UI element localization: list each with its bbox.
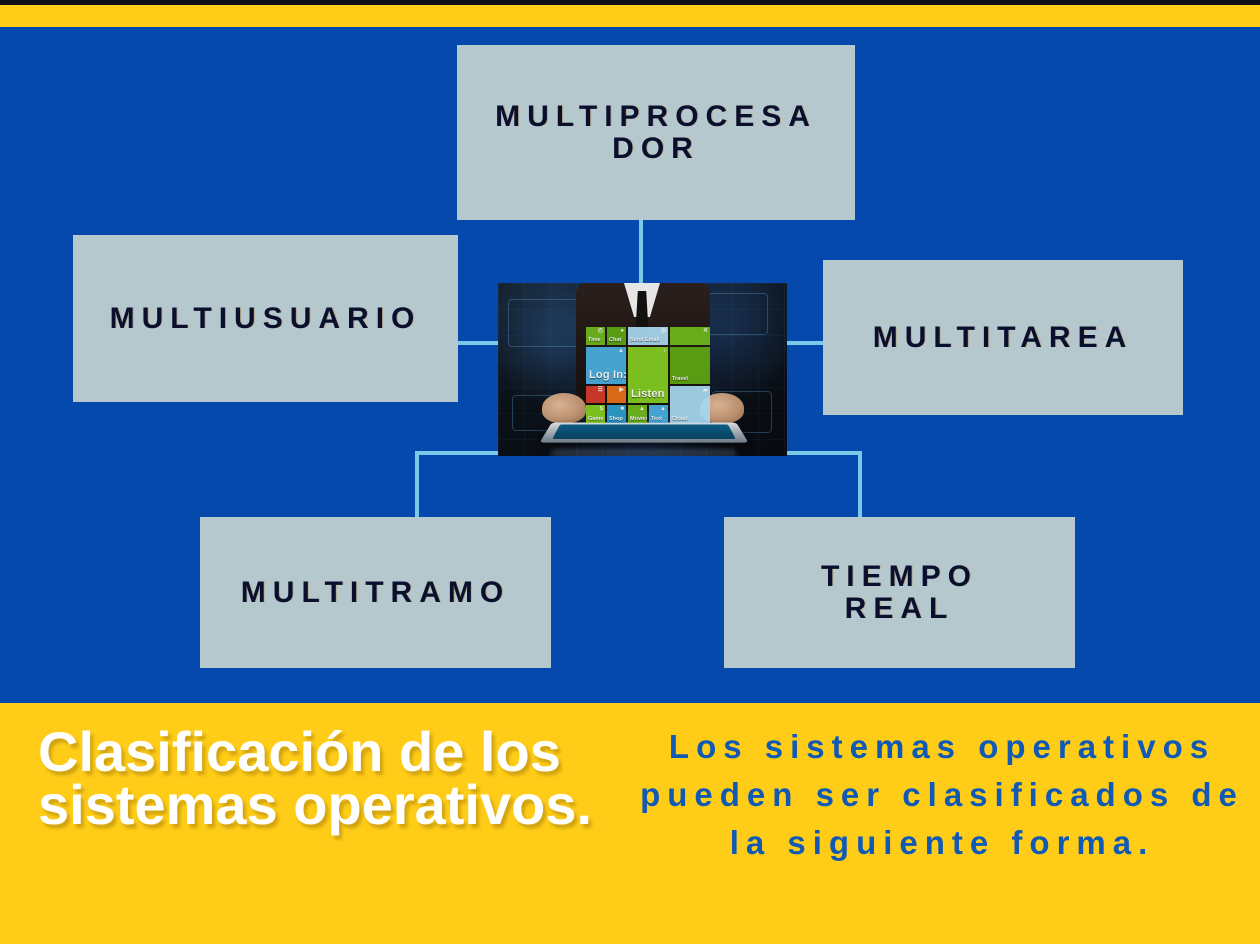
app-tile-orange: ▶ (607, 386, 626, 404)
node-label: MULTIPROCESA DOR (495, 101, 817, 164)
app-tile-grid: ◴ Time ● Chat ◎ Send Email ✕ ▲ Log In (586, 327, 710, 423)
chat-bubble-icon: ● (620, 328, 624, 334)
tablet-device (540, 423, 749, 443)
app-tile-label: Listen To: (631, 389, 668, 400)
connector-right-horizontal (785, 341, 825, 345)
connector-bottom-right-vertical (858, 451, 862, 519)
center-illustration: ◴ Time ● Chat ◎ Send Email ✕ ▲ Log In (498, 283, 787, 456)
node-tiempo-real[interactable]: TIEMPO REAL (724, 517, 1075, 668)
music-note-icon: ♪ (663, 348, 666, 354)
movies-icon: ▲ (639, 406, 645, 412)
app-tile-send-email: ◎ Send Email (628, 327, 668, 345)
app-tile-movies: ▲ Movies (628, 405, 647, 423)
diagram-stage: ◴ Time ● Chat ◎ Send Email ✕ ▲ Log In (0, 27, 1260, 703)
app-tile-label: Game (588, 417, 603, 423)
footer-band: Clasificación de los sistemas operativos… (0, 703, 1260, 944)
poster-blurb: Los sistemas operativos pueden ser clasi… (612, 723, 1260, 867)
app-tile-text: ▲ Text (649, 405, 668, 423)
node-multiusuario[interactable]: MULTIUSUARIO (73, 235, 458, 402)
node-label: MULTITAREA (873, 322, 1134, 354)
node-multiprocesador[interactable]: MULTIPROCESA DOR (457, 45, 855, 220)
app-tile-shop: ■ Shop (607, 405, 626, 423)
app-tile-log-in: ▲ Log In: (586, 347, 626, 384)
node-label: TIEMPO REAL (821, 561, 978, 624)
game-icon: $ (600, 406, 603, 412)
node-label: MULTITRAMO (241, 577, 510, 609)
app-tile-label: Movies (630, 417, 647, 423)
app-tile-label: Chat (609, 338, 621, 344)
node-multitramo[interactable]: MULTITRAMO (200, 517, 551, 668)
app-tile-label: Send Email (630, 338, 660, 344)
connector-bottom-left-vertical (415, 451, 419, 519)
app-tile-label: Text (651, 417, 662, 423)
app-tile-label: Time (588, 338, 601, 344)
app-tile-game: $ Game (586, 405, 605, 423)
app-tile-chat: ● Chat (607, 327, 626, 345)
top-yellow-strip (0, 5, 1260, 27)
app-tile-cloud: ☁ Cloud (670, 386, 710, 423)
businessman-left-hand (542, 393, 586, 423)
app-tile-red: ☰ (586, 386, 605, 404)
list-icon: ☰ (598, 387, 603, 393)
clock-icon: ◴ (598, 328, 603, 334)
play-icon: ▶ (619, 387, 624, 393)
infographic-poster: ◴ Time ● Chat ◎ Send Email ✕ ▲ Log In (0, 0, 1260, 944)
tablet-screen (552, 424, 736, 439)
text-icon: ▲ (660, 406, 666, 412)
connector-top-vertical (639, 220, 643, 283)
app-tile-label: Travel (672, 377, 688, 383)
shop-icon: ■ (620, 406, 624, 412)
node-label: MULTIUSUARIO (110, 303, 422, 335)
poster-headline: Clasificación de los sistemas operativos… (38, 725, 598, 831)
close-icon: ✕ (703, 328, 708, 334)
node-multitarea[interactable]: MULTITAREA (823, 260, 1183, 415)
upload-icon: ▲ (618, 348, 624, 354)
app-tile-label: Log In: (589, 370, 626, 381)
app-tile-time: ◴ Time (586, 327, 605, 345)
app-tile-label: Cloud (672, 417, 688, 423)
app-tile-listen-to: ♪ Listen To: (628, 347, 668, 404)
app-tile-travel: Travel (670, 347, 710, 384)
mail-icon: ◎ (661, 328, 666, 334)
app-tile-label: Shop (609, 417, 623, 423)
tablet-reflection (552, 449, 736, 456)
connector-left-horizontal (455, 341, 500, 345)
cloud-icon: ☁ (702, 387, 708, 393)
app-tile-close: ✕ (670, 327, 710, 345)
